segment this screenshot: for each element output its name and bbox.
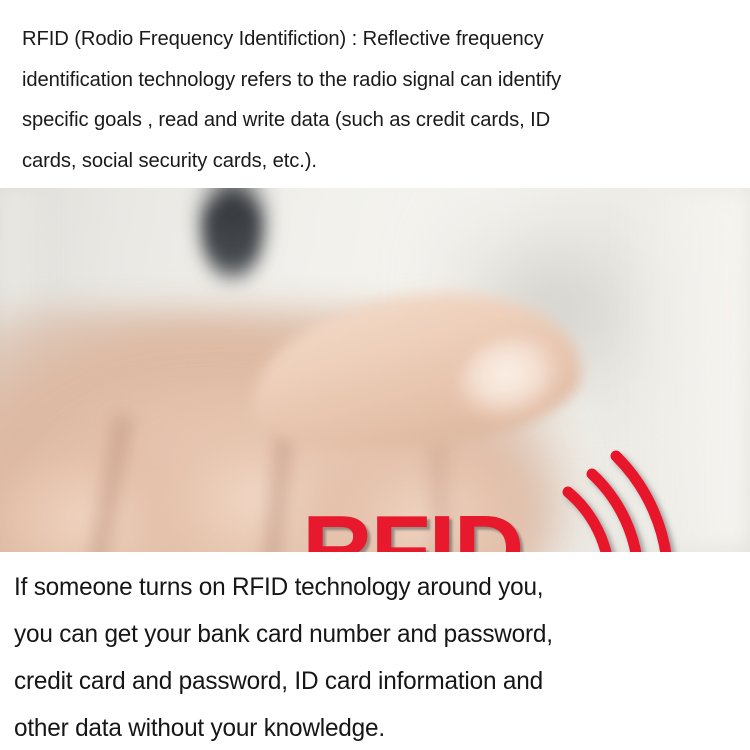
bottom-text-line-4: other data without your knowledge.	[14, 705, 733, 750]
top-text-line-2: identification technology refers to the …	[22, 60, 721, 101]
top-text-line-4: cards, social security cards, etc.).	[22, 141, 721, 182]
bottom-text-line-3: credit card and password, ID card inform…	[14, 658, 733, 705]
top-text-line-1: RFID (Rodio Frequency Identifiction) : R…	[22, 19, 721, 60]
bottom-text-line-2: you can get your bank card number and pa…	[14, 611, 733, 658]
bottom-text-line-1: If someone turns on RFID technology arou…	[14, 564, 733, 611]
blurred-hand-photograph: RFID	[0, 188, 750, 552]
rfid-warning-paragraph: If someone turns on RFID technology arou…	[0, 552, 750, 750]
photo-right-highlight	[610, 188, 750, 552]
rfid-definition-paragraph: RFID (Rodio Frequency Identifiction) : R…	[0, 0, 750, 188]
infographic-page: RFID (Rodio Frequency Identifiction) : R…	[0, 0, 750, 750]
top-text-line-3: specific goals , read and write data (su…	[22, 100, 721, 141]
